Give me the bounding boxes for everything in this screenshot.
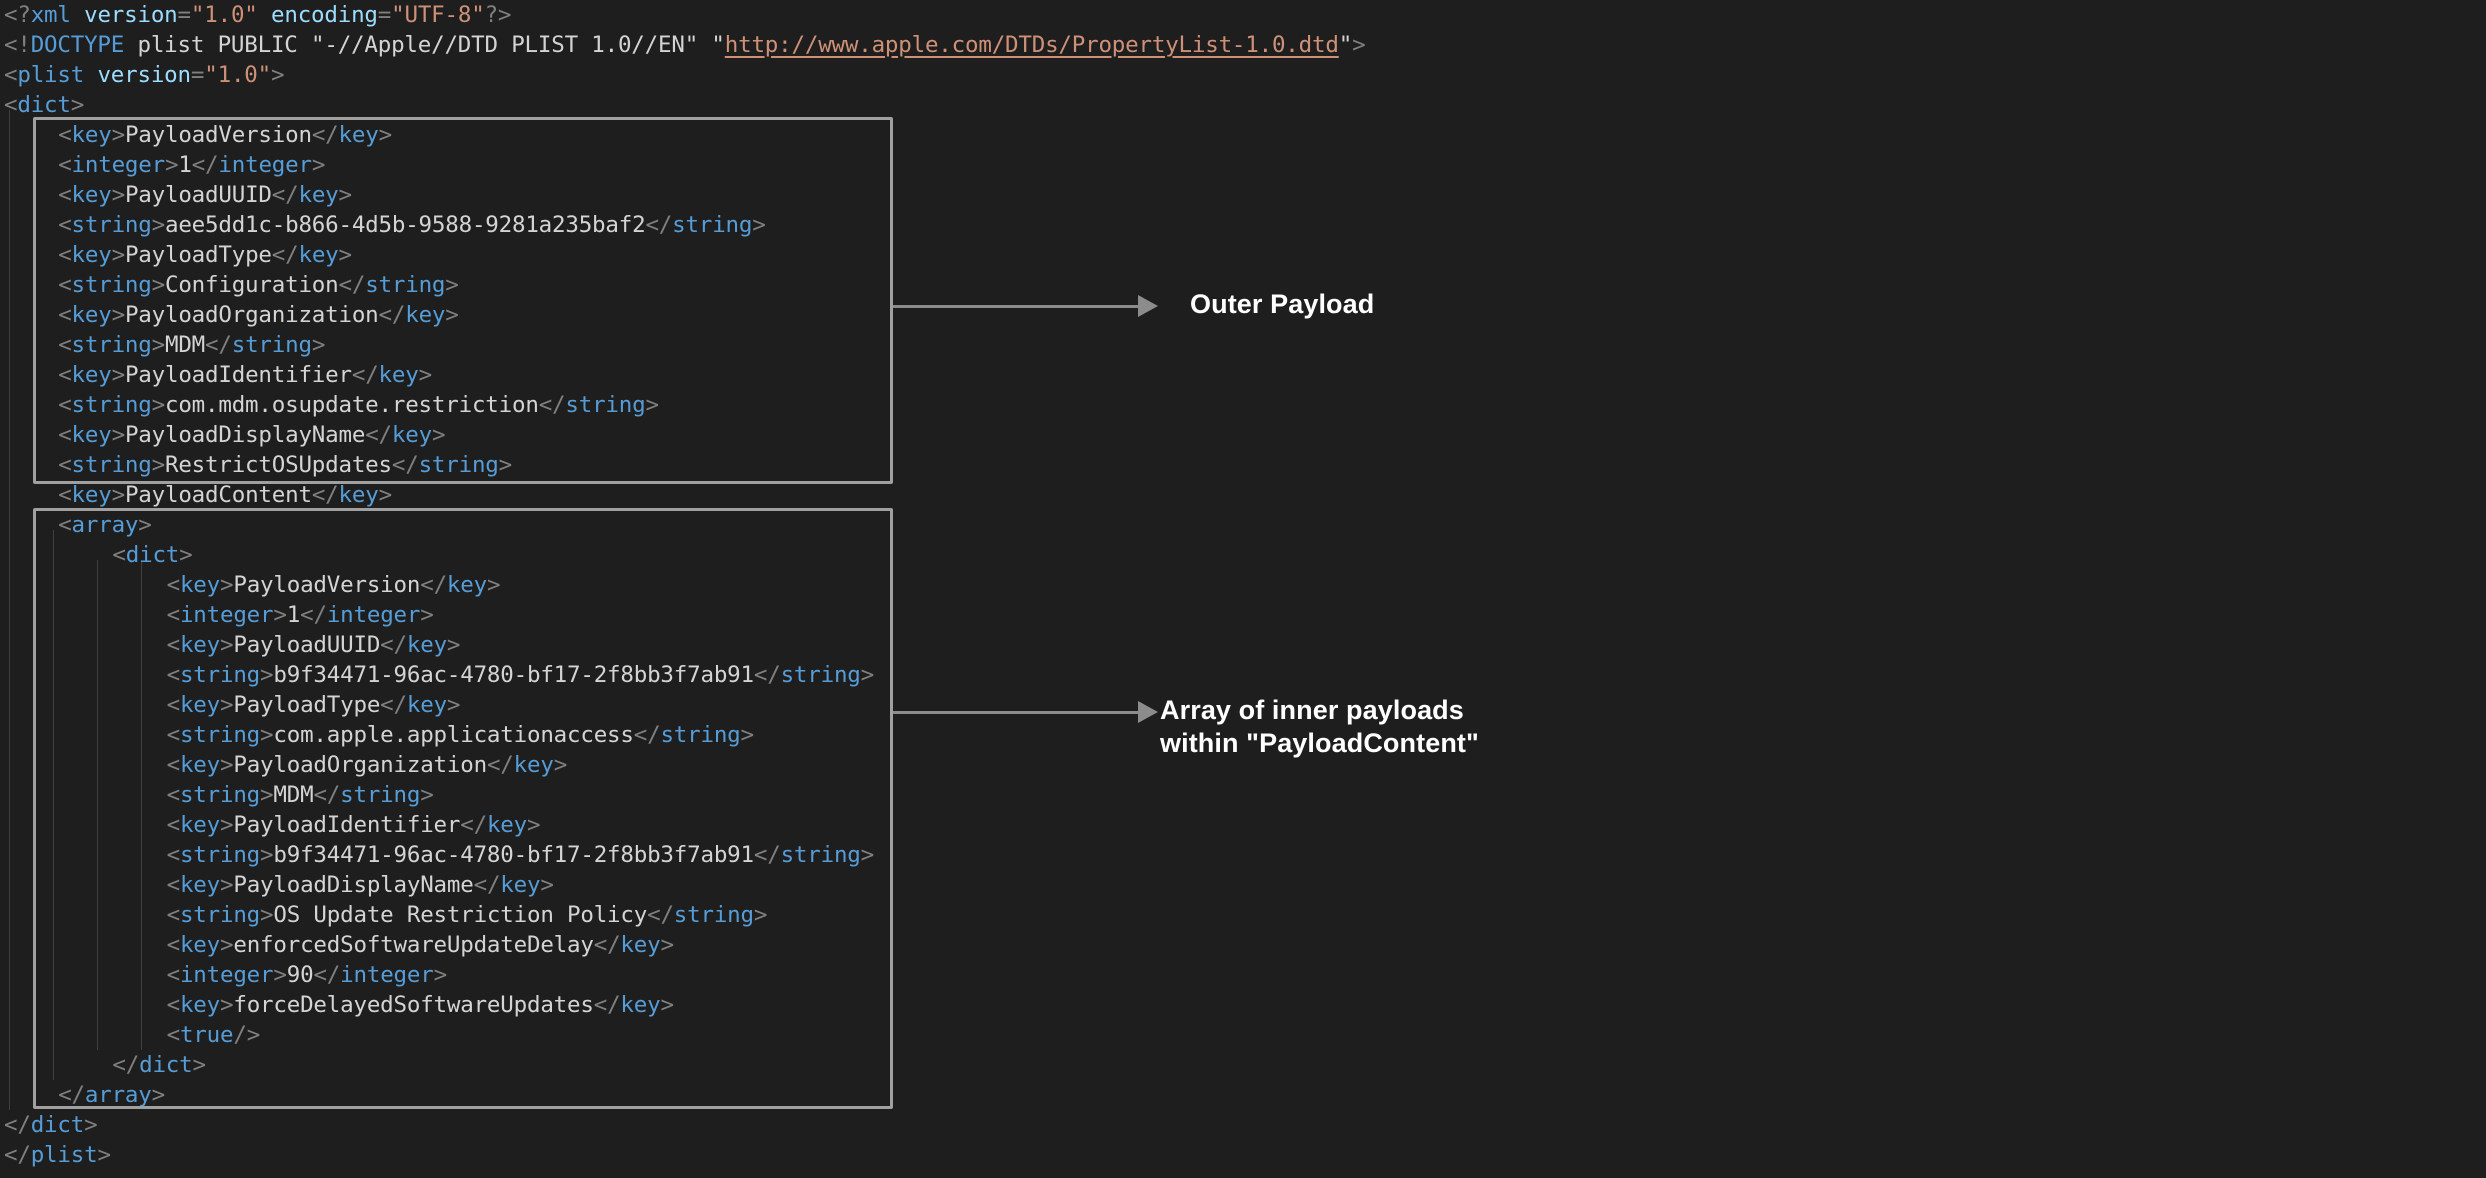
code-token-br: ?> [485, 2, 512, 28]
code-token-br: = [378, 2, 391, 28]
code-line[interactable]: <!DOCTYPE plist PUBLIC "-//Apple//DTD PL… [4, 30, 1365, 60]
code-token-tx: PayloadIdentifier [125, 362, 352, 388]
code-token-tg: string [72, 332, 152, 358]
code-token-br: > [112, 482, 125, 508]
code-token-br: > [260, 902, 273, 928]
code-token-br: < [58, 392, 71, 418]
code-token-br: </ [205, 332, 232, 358]
code-token-num: 90 [287, 962, 314, 988]
code-token-br: > [152, 452, 165, 478]
indent-guide [141, 560, 142, 1050]
code-line[interactable]: <string>MDM</string> [58, 330, 325, 360]
code-token-br: < [58, 512, 71, 538]
code-token-tg: string [781, 662, 861, 688]
code-token-tg: dict [139, 1052, 192, 1078]
code-token-br: < [167, 602, 180, 628]
code-token-dt: "-//Apple//DTD PLIST 1.0//EN" [311, 32, 698, 58]
code-token-br: < [58, 452, 71, 478]
code-token-br: > [260, 782, 273, 808]
code-token-br: > [379, 122, 392, 148]
code-token-tg: string [180, 902, 260, 928]
code-token-br: < [58, 422, 71, 448]
code-token-br: </ [352, 362, 379, 388]
code-token-br: > [152, 212, 165, 238]
code-token-val: "1.0" [191, 2, 258, 28]
code-token-val: "UTF-8" [391, 2, 484, 28]
code-token-tg: array [72, 512, 139, 538]
code-token-tg: integer [180, 962, 273, 988]
code-line[interactable]: <plist version="1.0"> [4, 60, 284, 90]
code-token-br: < [58, 302, 71, 328]
code-token-br: < [167, 662, 180, 688]
code-token-tg: key [72, 122, 112, 148]
code-token-tg: integer [180, 602, 273, 628]
code-token-tg: integer [72, 152, 165, 178]
code-token-tx: enforcedSoftwareUpdateDelay [233, 932, 593, 958]
code-token-tg: key [180, 632, 220, 658]
code-token-tx: PayloadUUID [233, 632, 380, 658]
code-token-tg: string [565, 392, 645, 418]
code-line[interactable]: <string>RestrictOSUpdates</string> [58, 450, 512, 480]
code-token-br: < [58, 182, 71, 208]
code-token-br: < [4, 62, 17, 88]
code-token-tg: key [72, 182, 112, 208]
code-token-tg: string [660, 722, 740, 748]
code-line[interactable]: <string>Configuration</string> [58, 270, 458, 300]
code-token-br: </ [272, 182, 299, 208]
code-token-tg: xml [31, 2, 71, 28]
code-token-br: > [741, 722, 754, 748]
code-token-br: < [167, 632, 180, 658]
code-line[interactable]: <key>PayloadVersion</key> [58, 120, 392, 150]
code-token-tx: b9f34471-96ac-4780-bf17-2f8bb3f7ab91 [273, 842, 753, 868]
code-token-br: > [260, 662, 273, 688]
code-token-tx: MDM [165, 332, 205, 358]
code-token-tx: b9f34471-96ac-4780-bf17-2f8bb3f7ab91 [273, 662, 753, 688]
code-token-br: </ [594, 932, 621, 958]
code-line[interactable]: <string>b9f34471-96ac-4780-bf17-2f8bb3f7… [167, 660, 874, 690]
code-token-br: < [167, 752, 180, 778]
code-token-tg: key [180, 692, 220, 718]
code-token-tg: true [180, 1022, 233, 1048]
code-token-br: </ [313, 782, 340, 808]
code-token-br: > [419, 362, 432, 388]
code-token-dt [698, 32, 711, 58]
code-line[interactable]: <key>PayloadType</key> [167, 690, 461, 720]
annotation-arrowhead-icon-inner-payload-array [1138, 701, 1158, 723]
code-token-br: < [167, 572, 180, 598]
code-token-tx: aee5dd1c-b866-4d5b-9588-9281a235baf2 [165, 212, 645, 238]
code-token-tx: PayloadType [125, 242, 272, 268]
code-token-tg: plist [17, 62, 84, 88]
code-token-tx: PayloadOrganization [233, 752, 487, 778]
code-token-br: > [312, 332, 325, 358]
code-token-tg: string [419, 452, 499, 478]
code-token-br: > [112, 422, 125, 448]
code-token-tg: string [72, 212, 152, 238]
code-token-br: </ [338, 272, 365, 298]
code-line[interactable]: <array> [58, 510, 151, 540]
code-line[interactable]: <key>PayloadUUID</key> [58, 180, 352, 210]
code-line[interactable]: <integer>90</integer> [167, 960, 447, 990]
code-token-br: < [167, 722, 180, 748]
code-token-br: > [138, 512, 151, 538]
code-token-tx: com.apple.applicationaccess [273, 722, 633, 748]
code-token-br: > [97, 1142, 110, 1168]
code-token-val: "1.0" [204, 62, 271, 88]
code-token-tx: PayloadVersion [125, 122, 312, 148]
code-token-tg: dict [126, 542, 179, 568]
code-token-tg: string [180, 842, 260, 868]
code-token-br: > [220, 692, 233, 718]
code-line[interactable]: <?xml version="1.0" encoding="UTF-8"?> [4, 0, 511, 30]
code-token-br: </ [645, 212, 672, 238]
annotation-arrow-line-outer-payload [893, 305, 1138, 308]
code-line[interactable]: <string>b9f34471-96ac-4780-bf17-2f8bb3f7… [167, 840, 874, 870]
code-token-br: < [167, 902, 180, 928]
code-token-br: < [167, 782, 180, 808]
annotation-arrow-line-inner-payload-array [893, 711, 1138, 714]
code-token-br: <? [4, 2, 31, 28]
code-token-br: > [220, 572, 233, 598]
code-token-tg: string [180, 662, 260, 688]
code-token-br: </ [192, 152, 219, 178]
code-token-tg: string [781, 842, 861, 868]
code-token-tx: PayloadUUID [125, 182, 272, 208]
code-token-tg: key [392, 422, 432, 448]
code-token-br: > [152, 272, 165, 298]
indent-guide [53, 530, 54, 1080]
code-token-br: > [152, 332, 165, 358]
code-token-br: > [312, 152, 325, 178]
annotation-label-inner-payload-array: Array of inner payloads within "PayloadC… [1160, 694, 1479, 760]
code-line[interactable]: <key>enforcedSoftwareUpdateDelay</key> [167, 930, 674, 960]
code-token-br: < [58, 122, 71, 148]
code-token-br: < [167, 812, 180, 838]
code-token-br: </ [365, 422, 392, 448]
code-token-url: http://www.apple.com/DTDs/PropertyList-1… [725, 32, 1339, 58]
code-token-br: > [112, 242, 125, 268]
code-token-br: > [487, 572, 500, 598]
code-token-br: </ [112, 1052, 139, 1078]
code-token-num: 1 [287, 602, 300, 628]
code-line[interactable]: <key>PayloadDisplayName</key> [58, 420, 445, 450]
code-token-tg: key [180, 572, 220, 598]
code-token-br: < [58, 362, 71, 388]
code-token-br: > [554, 752, 567, 778]
code-token-br: > [540, 872, 553, 898]
code-token-tg: key [180, 752, 220, 778]
code-token-tg: key [339, 122, 379, 148]
code-token-br: </ [312, 482, 339, 508]
code-token-br: < [58, 242, 71, 268]
code-token-br: </ [312, 122, 339, 148]
annotation-label-outer-payload: Outer Payload [1190, 288, 1374, 321]
code-token-br: > [192, 1052, 205, 1078]
code-token-dt: " [1339, 32, 1352, 58]
code-token-tg: key [407, 632, 447, 658]
code-token-br: < [167, 932, 180, 958]
code-token-tg: array [85, 1082, 152, 1108]
code-token-br: </ [4, 1112, 31, 1138]
code-token-dt: " [711, 32, 724, 58]
code-token-tg: key [405, 302, 445, 328]
code-token-br: > [220, 932, 233, 958]
code-token-br: > [645, 392, 658, 418]
code-token-br: > [499, 452, 512, 478]
code-line[interactable]: </dict> [4, 1110, 97, 1140]
code-token-br: < [167, 992, 180, 1018]
code-token-br: < [167, 1022, 180, 1048]
code-token-br: > [273, 602, 286, 628]
code-line[interactable]: <string>com.apple.applicationaccess</str… [167, 720, 754, 750]
code-token-br: < [58, 212, 71, 238]
code-token-br: > [179, 542, 192, 568]
code-line[interactable]: <string>com.mdm.osupdate.restriction</st… [58, 390, 659, 420]
code-token-br: > [420, 782, 433, 808]
code-token-br: </ [474, 872, 501, 898]
code-token-br: > [861, 842, 874, 868]
code-token-tg: key [180, 992, 220, 1018]
code-token-tg: key [72, 302, 112, 328]
code-token-br: > [432, 422, 445, 448]
indent-guide [9, 110, 10, 1110]
code-token-br: > [220, 632, 233, 658]
code-line[interactable]: <key>PayloadUUID</key> [167, 630, 461, 660]
code-token-tx: PayloadDisplayName [125, 422, 365, 448]
code-token-tg: key [379, 362, 419, 388]
code-token-br: < [58, 332, 71, 358]
code-token-br: </ [392, 452, 419, 478]
code-token-tx: PayloadOrganization [125, 302, 379, 328]
code-token-tg: key [72, 422, 112, 448]
code-line[interactable]: <integer>1</integer> [167, 600, 434, 630]
code-token-tg: string [672, 212, 752, 238]
code-token-br: </ [58, 1082, 85, 1108]
code-token-tg: key [514, 752, 554, 778]
code-token-num: 1 [178, 152, 191, 178]
code-token-br: > [339, 182, 352, 208]
code-token-tg: key [500, 872, 540, 898]
code-token-br: </ [300, 602, 327, 628]
code-token-tx: PayloadIdentifier [233, 812, 460, 838]
code-token-br: > [754, 902, 767, 928]
code-token-tg: dict [31, 1112, 84, 1138]
code-token-tg: string [72, 392, 152, 418]
code-token-tg: string [180, 782, 260, 808]
code-token-br: > [260, 842, 273, 868]
code-token-tg: string [180, 722, 260, 748]
code-token-tx: RestrictOSUpdates [165, 452, 392, 478]
code-token-tx: forceDelayedSoftwareUpdates [233, 992, 593, 1018]
code-token-attr: version [97, 62, 190, 88]
code-token-tx: MDM [273, 782, 313, 808]
code-token-tg: key [180, 812, 220, 838]
code-token-br: < [58, 152, 71, 178]
code-token-br: > [152, 1082, 165, 1108]
code-token-tg: key [298, 182, 338, 208]
code-token-tg: string [72, 272, 152, 298]
code-token-tg: key [447, 572, 487, 598]
code-token-br: < [167, 962, 180, 988]
code-line[interactable]: <key>PayloadOrganization</key> [58, 300, 458, 330]
code-token-br: < [58, 482, 71, 508]
code-line[interactable]: </plist> [4, 1140, 111, 1170]
code-token-br: <! [4, 32, 31, 58]
code-token-br: > [339, 242, 352, 268]
code-token-br: > [84, 1112, 97, 1138]
code-token-tg: key [620, 992, 660, 1018]
code-token-br: > [112, 182, 125, 208]
code-token-br: </ [487, 752, 514, 778]
code-token-tg: integer [218, 152, 311, 178]
code-token-tg: string [365, 272, 445, 298]
code-token-br: </ [594, 992, 621, 1018]
code-line[interactable]: <string>MDM</string> [167, 780, 434, 810]
code-token-tg: key [72, 482, 112, 508]
code-line[interactable]: <integer>1</integer> [58, 150, 325, 180]
annotation-arrowhead-icon-outer-payload [1138, 295, 1158, 317]
code-line[interactable]: <string>aee5dd1c-b866-4d5b-9588-9281a235… [58, 210, 765, 240]
code-token-br: </ [647, 902, 674, 928]
code-token-tg: key [339, 482, 379, 508]
code-token-tx [258, 2, 271, 28]
code-token-br: > [447, 632, 460, 658]
code-token-tx [84, 62, 97, 88]
code-token-br: > [220, 812, 233, 838]
code-token-tg: dict [17, 92, 70, 118]
code-token-br: </ [380, 692, 407, 718]
code-token-br: > [861, 662, 874, 688]
code-token-br: > [527, 812, 540, 838]
code-token-br: > [420, 602, 433, 628]
code-token-br: </ [420, 572, 447, 598]
code-token-br: </ [754, 842, 781, 868]
code-line[interactable]: <key>PayloadIdentifier</key> [58, 360, 432, 390]
code-line[interactable]: <string>OS Update Restriction Policy</st… [167, 900, 768, 930]
code-token-br: </ [4, 1142, 31, 1168]
code-token-br: > [445, 272, 458, 298]
code-token-br: > [71, 92, 84, 118]
code-token-br: </ [272, 242, 299, 268]
code-token-tg: DOCTYPE [31, 32, 124, 58]
code-token-br: /> [233, 1022, 260, 1048]
code-editor[interactable]: <?xml version="1.0" encoding="UTF-8"?><!… [0, 0, 2486, 1178]
code-token-br: </ [634, 722, 661, 748]
code-line[interactable]: </array> [58, 1080, 165, 1110]
code-token-tg: string [674, 902, 754, 928]
code-token-br: > [445, 302, 458, 328]
code-token-br: > [273, 962, 286, 988]
code-token-tg: key [72, 242, 112, 268]
code-token-tg: key [487, 812, 527, 838]
code-line[interactable]: <key>PayloadIdentifier</key> [167, 810, 541, 840]
code-line[interactable]: <key>PayloadContent</key> [58, 480, 392, 510]
code-token-br: < [58, 272, 71, 298]
code-line[interactable]: <key>forceDelayedSoftwareUpdates</key> [167, 990, 674, 1020]
code-token-dt: plist PUBLIC [124, 32, 311, 58]
code-token-br: = [191, 62, 204, 88]
code-token-tx [71, 2, 84, 28]
code-token-br: = [178, 2, 191, 28]
code-token-br: </ [539, 392, 566, 418]
code-token-br: < [167, 692, 180, 718]
code-line[interactable]: <key>PayloadVersion</key> [167, 570, 501, 600]
code-token-br: </ [754, 662, 781, 688]
code-line[interactable]: <key>PayloadOrganization</key> [167, 750, 567, 780]
code-token-br: < [112, 542, 125, 568]
code-token-br: < [167, 842, 180, 868]
code-token-br: > [152, 392, 165, 418]
code-token-br: > [112, 302, 125, 328]
code-token-tx: OS Update Restriction Policy [273, 902, 647, 928]
code-token-br: > [447, 692, 460, 718]
code-token-br: > [660, 932, 673, 958]
code-line[interactable]: <dict> [4, 90, 84, 120]
code-token-br: > [260, 722, 273, 748]
code-token-tg: integer [340, 962, 433, 988]
code-token-tg: key [407, 692, 447, 718]
code-token-br: > [112, 122, 125, 148]
code-token-attr: encoding [271, 2, 378, 28]
code-line[interactable]: <key>PayloadType</key> [58, 240, 352, 270]
code-token-br: > [220, 992, 233, 1018]
code-token-tx: PayloadVersion [233, 572, 420, 598]
code-token-br: < [167, 872, 180, 898]
code-token-tg: integer [327, 602, 420, 628]
code-token-br: > [112, 362, 125, 388]
code-token-tg: string [232, 332, 312, 358]
code-token-br: > [379, 482, 392, 508]
code-token-br: > [271, 62, 284, 88]
code-token-tx: PayloadType [233, 692, 380, 718]
code-line[interactable]: <true/> [167, 1020, 260, 1050]
code-token-tg: key [180, 932, 220, 958]
code-token-br: </ [380, 632, 407, 658]
code-token-br: > [220, 752, 233, 778]
code-token-tg: key [72, 362, 112, 388]
code-token-tx: PayloadDisplayName [233, 872, 473, 898]
code-token-br: > [165, 152, 178, 178]
code-token-tg: plist [31, 1142, 98, 1168]
code-token-br: > [752, 212, 765, 238]
code-token-br: </ [460, 812, 487, 838]
code-token-br: < [4, 92, 17, 118]
code-token-br: </ [379, 302, 406, 328]
code-token-tg: string [72, 452, 152, 478]
code-token-br: > [660, 992, 673, 1018]
code-token-tx: PayloadContent [125, 482, 312, 508]
code-token-br: > [434, 962, 447, 988]
code-token-br: </ [313, 962, 340, 988]
code-line[interactable]: </dict> [112, 1050, 205, 1080]
indent-guide [97, 560, 98, 1050]
code-token-tg: key [620, 932, 660, 958]
code-token-br: > [1352, 32, 1365, 58]
code-token-attr: version [84, 2, 177, 28]
code-token-tg: key [180, 872, 220, 898]
code-line[interactable]: <key>PayloadDisplayName</key> [167, 870, 554, 900]
code-token-tg: key [298, 242, 338, 268]
code-token-tg: string [340, 782, 420, 808]
code-token-tx: com.mdm.osupdate.restriction [165, 392, 539, 418]
code-token-tx: Configuration [165, 272, 339, 298]
code-line[interactable]: <dict> [112, 540, 192, 570]
code-token-br: > [220, 872, 233, 898]
